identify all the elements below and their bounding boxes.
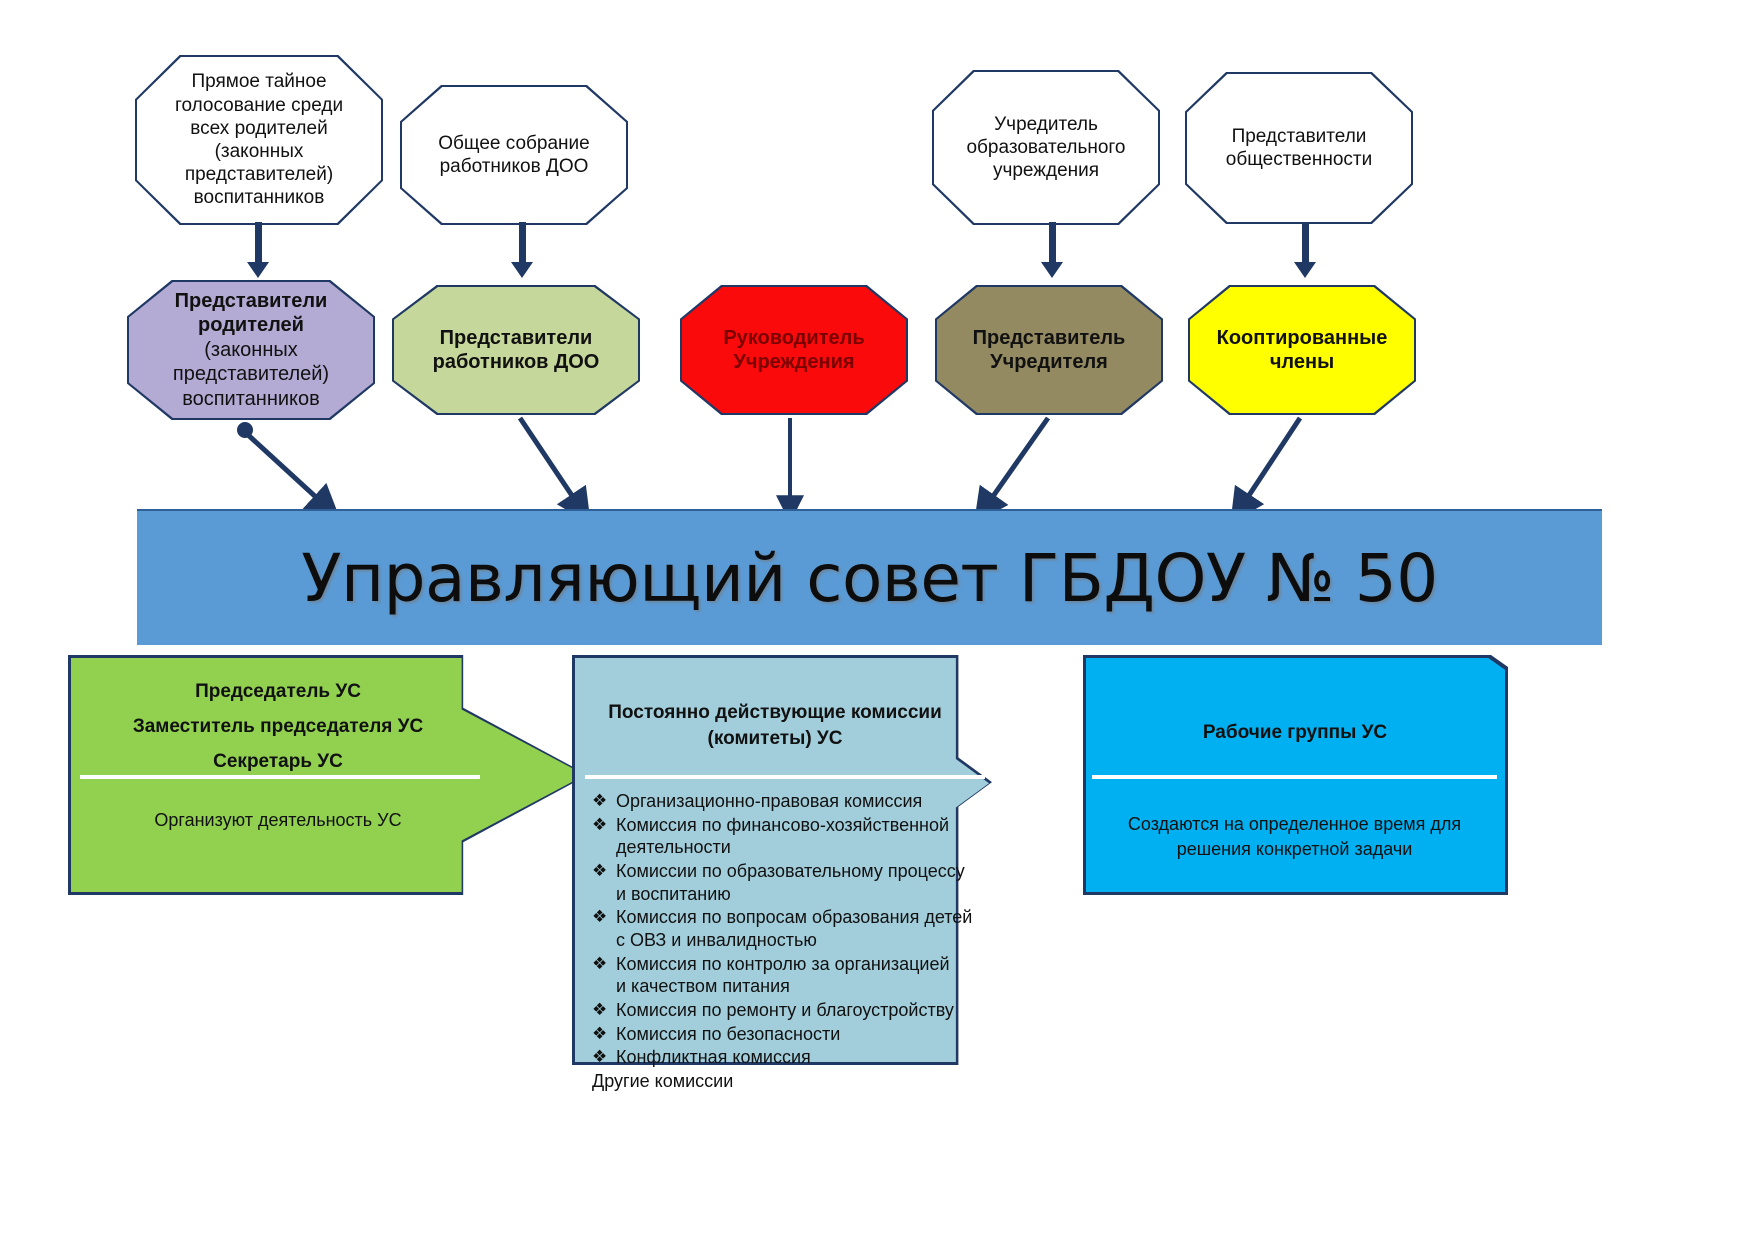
connector-arrowhead-staffmeeting-to-staffreps — [511, 262, 533, 278]
node-line: всех родителей — [175, 117, 343, 140]
list-item-line: Конфликтная комиссия — [616, 1047, 811, 1067]
officers-footer-text: Организуют деятельность УС — [68, 810, 488, 831]
officer-role: Председатель УС — [78, 681, 478, 703]
commissions-trailing-text: Другие комиссии — [590, 1070, 985, 1093]
node-direct-secret-vote[interactable]: Прямое тайное голосование среди всех род… — [135, 55, 383, 225]
list-item-line: с ОВЗ и инвалидностью — [616, 930, 817, 950]
officer-role: Заместитель председателя УС — [78, 716, 478, 738]
node-line: представителей) — [175, 163, 343, 186]
node-line: (законных — [173, 338, 329, 362]
node-line: воспитанников — [173, 387, 329, 411]
node-line: родителей — [173, 313, 329, 337]
node-founder-of-institution[interactable]: Учредитель образовательного учреждения — [932, 70, 1160, 225]
diamond-bullet-icon: ❖ — [592, 814, 607, 835]
council-banner[interactable]: Управляющий совет ГБДОУ № 50 — [137, 509, 1602, 645]
node-founder-representative[interactable]: Представитель Учредителя — [935, 285, 1163, 415]
list-item-line: и качеством питания — [616, 976, 790, 996]
officer-role: Секретарь УС — [78, 751, 478, 773]
node-line: Представитель — [973, 326, 1126, 350]
node-line: воспитанников — [175, 186, 343, 209]
node-line: представителей) — [173, 362, 329, 386]
commissions-heading: Постоянно действующие комиссии (комитеты… — [580, 700, 970, 751]
list-item-line: Комиссия по финансово-хозяйственной — [616, 815, 949, 835]
page-title: Управляющий совет ГБДОУ № 50 — [301, 540, 1437, 617]
list-item-line: Комиссия по контролю за организацией — [616, 954, 950, 974]
node-line: Учредителя — [973, 350, 1126, 374]
connector-arrowhead-founder-to-founderrep — [1041, 262, 1063, 278]
diamond-bullet-icon: ❖ — [592, 953, 607, 974]
node-head-of-institution[interactable]: Руководитель Учреждения — [680, 285, 908, 415]
working-groups-body-line: Создаются на определенное время для — [1092, 812, 1497, 837]
list-item-line: Комиссия по безопасности — [616, 1024, 840, 1044]
commissions-list: ❖ Организационно-правовая комиссия ❖ Ком… — [590, 790, 985, 1093]
node-public-representatives[interactable]: Представители общественности — [1185, 72, 1413, 224]
node-line: Руководитель — [723, 326, 864, 350]
node-staff-representatives[interactable]: Представители работников ДОО — [392, 285, 640, 415]
list-item-line: и воспитанию — [616, 884, 731, 904]
list-item-line: Комиссии по образовательному процессу — [616, 861, 965, 881]
node-line: (законных — [175, 140, 343, 163]
working-groups-body: Создаются на определенное время для реше… — [1092, 812, 1497, 862]
diamond-bullet-icon: ❖ — [592, 790, 607, 811]
list-item-line: деятельности — [616, 837, 731, 857]
node-line: общественности — [1226, 148, 1372, 171]
node-line: Прямое тайное — [175, 70, 343, 93]
list-item[interactable]: ❖ Комиссия по безопасности — [590, 1023, 985, 1046]
diamond-bullet-icon: ❖ — [592, 1046, 607, 1067]
diamond-bullet-icon: ❖ — [592, 860, 607, 881]
list-item[interactable]: ❖ Конфликтная комиссия — [590, 1046, 985, 1069]
commissions-heading-line: (комитеты) УС — [580, 726, 970, 752]
node-line: Учреждения — [723, 350, 864, 374]
officers-role-list: Председатель УС Заместитель председателя… — [78, 668, 478, 786]
diamond-bullet-icon: ❖ — [592, 906, 607, 927]
node-line: работников ДОО — [438, 155, 589, 178]
diagram-canvas: Прямое тайное голосование среди всех род… — [0, 0, 1755, 1241]
node-line: Общее собрание — [438, 132, 589, 155]
node-general-staff-meeting[interactable]: Общее собрание работников ДОО — [400, 85, 628, 225]
node-line: Представители — [173, 289, 329, 313]
connector-line-vote-to-parents — [255, 222, 262, 267]
connector-arrowhead-public-to-coopted — [1294, 262, 1316, 278]
node-line: Представители — [433, 326, 600, 350]
node-line: Представители — [1226, 125, 1372, 148]
list-item[interactable]: ❖ Комиссии по образовательному процессу … — [590, 860, 985, 905]
node-line: работников ДОО — [433, 350, 600, 374]
list-item-line: Организационно-правовая комиссия — [616, 791, 922, 811]
list-item[interactable]: ❖ Комиссия по контролю за организацией и… — [590, 953, 985, 998]
officers-divider — [80, 775, 480, 779]
list-item[interactable]: ❖ Комиссия по вопросам образования детей… — [590, 906, 985, 951]
diamond-bullet-icon: ❖ — [592, 999, 607, 1020]
connector-arrowhead-vote-to-parents — [247, 262, 269, 278]
node-line: Учредитель — [966, 113, 1125, 136]
connector-line-founder-to-founderrep — [1049, 222, 1056, 267]
list-item[interactable]: ❖ Комиссия по финансово-хозяйственной де… — [590, 814, 985, 859]
connector-line-public-to-coopted — [1302, 222, 1309, 267]
list-item[interactable]: ❖ Комиссия по ремонту и благоустройству — [590, 999, 985, 1022]
node-line: образовательного — [966, 136, 1125, 159]
node-co-opted-members[interactable]: Кооптированные члены — [1188, 285, 1416, 415]
node-line: голосование среди — [175, 94, 343, 117]
diamond-bullet-icon: ❖ — [592, 1023, 607, 1044]
node-line: Кооптированные — [1217, 326, 1388, 350]
working-groups-body-line: решения конкретной задачи — [1092, 837, 1497, 862]
working-groups-heading: Рабочие группы УС — [1090, 722, 1500, 744]
working-groups-divider — [1092, 775, 1497, 779]
node-line: учреждения — [966, 159, 1125, 182]
list-item-line: Комиссия по ремонту и благоустройству — [616, 1000, 954, 1020]
list-item-line: Комиссия по вопросам образования детей — [616, 907, 972, 927]
node-parent-representatives[interactable]: Представители родителей (законных предст… — [127, 280, 375, 420]
list-item[interactable]: ❖ Организационно-правовая комиссия — [590, 790, 985, 813]
connector-line-staffmeeting-to-staffreps — [519, 222, 526, 267]
commissions-heading-line: Постоянно действующие комиссии — [580, 700, 970, 726]
commissions-divider — [585, 775, 985, 779]
node-line: члены — [1217, 350, 1388, 374]
